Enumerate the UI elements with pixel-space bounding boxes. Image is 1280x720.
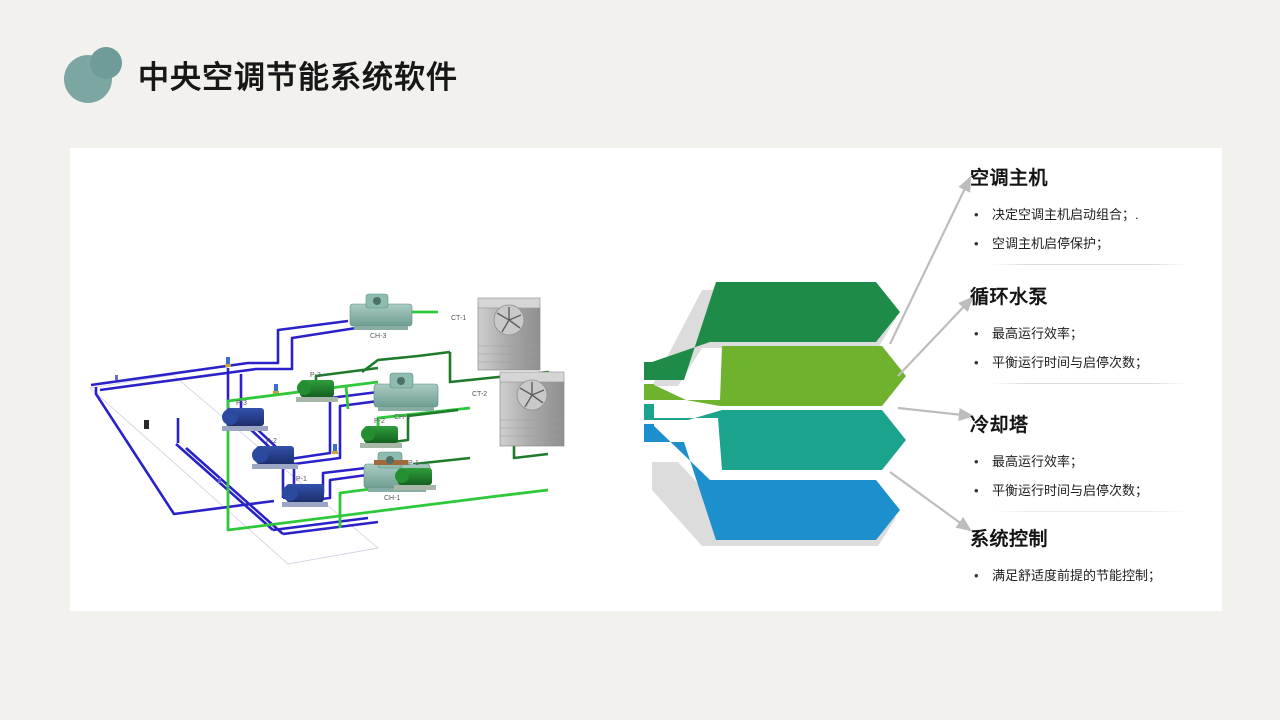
detail-divider <box>992 264 1188 265</box>
label-ch2: CH-2 <box>394 414 410 421</box>
label-p1-cond: P-1 <box>408 460 419 467</box>
list-item: 空调主机启停保护； <box>970 229 1222 258</box>
list-item: 最高运行效率； <box>970 319 1222 348</box>
cooling-tower-ct1: CT-1 <box>451 298 540 370</box>
detail-heading-pump: 循环水泵 <box>970 285 1222 311</box>
label-p2-chilled: P-2 <box>266 438 277 445</box>
detail-panel: 空调主机 决定空调主机启动组合；. 空调主机启停保护； 循环水泵 最高运行效率；… <box>970 158 1222 608</box>
detail-block-chiller: 空调主机 决定空调主机启动组合；. 空调主机启停保护； <box>970 166 1222 265</box>
pump-unit-p2-chilled: P-2 <box>252 438 298 469</box>
logo-circle-small <box>90 47 122 79</box>
detail-bullets-chiller: 决定空调主机启动组合；. 空调主机启停保护； <box>970 200 1222 258</box>
content-card: CH-3 CH-2 CH-1 P-3 <box>70 148 1222 611</box>
label-ct1: CT-1 <box>451 315 466 322</box>
detail-block-pump: 循环水泵 最高运行效率； 平衡运行时间与启停次数； <box>970 285 1222 384</box>
chiller-unit-ch3: CH-3 <box>350 294 412 340</box>
list-item: 平衡运行时间与启停次数； <box>970 348 1222 377</box>
pump-unit-p1-chilled: P-1 <box>282 476 328 507</box>
detail-divider <box>992 511 1188 512</box>
label-p3-chilled: P-3 <box>236 400 247 407</box>
label-p2-cond: P-2 <box>374 418 385 425</box>
label-ct2: CT-2 <box>472 391 487 398</box>
label-ch3: CH-3 <box>370 333 386 340</box>
detail-bullets-tower: 最高运行效率； 平衡运行时间与启停次数； <box>970 447 1222 505</box>
detail-bullets-control: 满足舒适度前提的节能控制； <box>970 561 1222 590</box>
label-ch1: CH-1 <box>384 495 400 502</box>
pump-unit-p3-cond: P-3 <box>296 372 338 402</box>
label-p3-cond: P-3 <box>310 372 321 379</box>
pump-unit-p2-cond: P-2 <box>360 418 402 448</box>
funnel-band-tower[interactable] <box>652 404 906 470</box>
page-title: 中央空调节能系统软件 <box>138 58 458 98</box>
cooling-tower-ct2: CT-2 <box>472 372 564 446</box>
list-item: 最高运行效率； <box>970 447 1222 476</box>
detail-bullets-pump: 最高运行效率； 平衡运行时间与启停次数； <box>970 319 1222 377</box>
list-item: 满足舒适度前提的节能控制； <box>970 561 1222 590</box>
hvac-system-schematic-diagram: CH-3 CH-2 CH-1 P-3 <box>78 268 598 598</box>
detail-block-control: 系统控制 满足舒适度前提的节能控制； <box>970 527 1222 590</box>
detail-heading-chiller: 空调主机 <box>970 166 1222 192</box>
brand-logo-icon <box>64 47 126 103</box>
schematic-ground-guides <box>90 375 378 564</box>
list-item: 平衡运行时间与启停次数； <box>970 476 1222 505</box>
detail-heading-control: 系统控制 <box>970 527 1222 553</box>
slide-header: 中央空调节能系统软件 <box>0 0 1280 148</box>
detail-divider <box>992 383 1188 384</box>
funnel-feed-stub <box>644 362 654 442</box>
detail-block-tower: 冷却塔 最高运行效率； 平衡运行时间与启停次数； <box>970 413 1222 512</box>
label-p1-chilled: P-1 <box>296 476 307 483</box>
detail-heading-tower: 冷却塔 <box>970 413 1222 439</box>
list-item: 决定空调主机启动组合；. <box>970 200 1222 229</box>
process-split-funnel-graphic <box>570 248 910 548</box>
